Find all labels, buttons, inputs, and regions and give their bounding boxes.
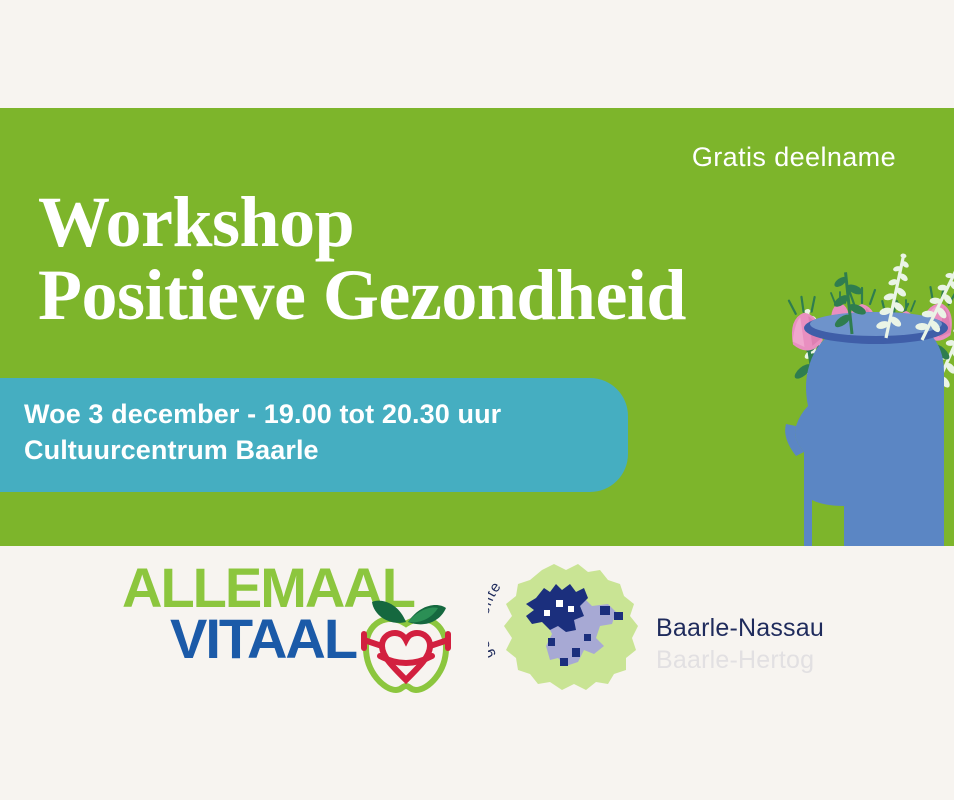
free-participation-badge: Gratis deelname	[692, 142, 896, 173]
gemeente-names: Baarle-Nassau Baarle-Hertog	[656, 612, 836, 676]
event-location: Cultuurcentrum Baarle	[24, 433, 628, 469]
page-title: Workshop Positieve Gezondheid	[38, 186, 686, 333]
gemeente-baarle-logo: gemeente Baarle-Nassau Baarle-Hertog	[488, 554, 838, 704]
logo-word-vitaal: VITAAL	[170, 611, 356, 667]
poster-canvas: Gratis deelname Workshop Positieve Gezon…	[0, 0, 954, 800]
gemeente-map-icon: gemeente	[488, 554, 648, 700]
svg-text:gemeente: gemeente	[488, 578, 505, 661]
event-details-banner: Woe 3 december - 19.00 tot 20.30 uur Cul…	[0, 378, 628, 492]
municipality-name-primary: Baarle-Nassau	[656, 612, 836, 644]
title-line-1: Workshop	[38, 182, 354, 262]
apple-heart-icon	[354, 596, 458, 694]
logo-strip: ALLEMAAL VITAAL	[0, 546, 954, 800]
allemaal-vitaal-logo: ALLEMAAL VITAAL	[122, 556, 472, 696]
gemeente-curved-label: gemeente	[488, 578, 505, 661]
head-with-flowers-illustration	[782, 190, 954, 546]
municipality-name-secondary: Baarle-Hertog	[656, 644, 836, 676]
event-datetime: Woe 3 december - 19.00 tot 20.30 uur	[24, 397, 628, 433]
title-line-2: Positieve Gezondheid	[38, 259, 686, 332]
